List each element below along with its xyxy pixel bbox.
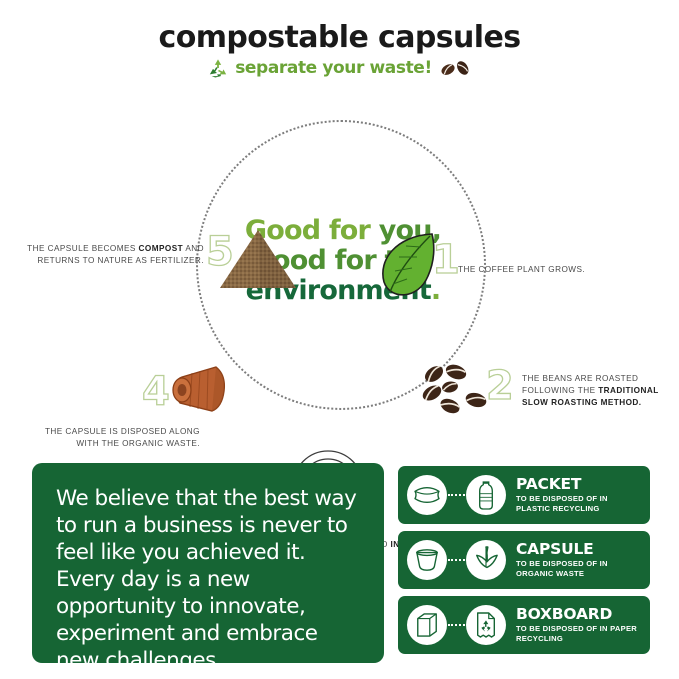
packet-icon-pair <box>407 475 506 515</box>
boxboard-card-title: BOXBOARD <box>516 606 642 622</box>
step-text-5: THE CAPSULE BECOMES COMPOST AND RETURNS … <box>24 243 204 267</box>
boxboard-card-text: BOXBOARD TO BE DISPOSED OF IN PAPER RECY… <box>516 606 642 644</box>
header-subline: separate your waste! <box>0 57 679 79</box>
header-tagline: separate your waste! <box>235 58 432 78</box>
step-text-2: THE BEANS ARE ROASTED FOLLOWING THE TRAD… <box>522 373 672 409</box>
packet-card-title: PACKET <box>516 476 642 492</box>
banana-peel-icon <box>466 540 506 580</box>
capsule-card-subtitle: TO BE DISPOSED OF IN ORGANIC WASTE <box>516 559 642 579</box>
dotted-connector <box>448 494 465 496</box>
waste-card-boxboard[interactable]: BOXBOARD TO BE DISPOSED OF IN PAPER RECY… <box>398 596 650 654</box>
packet-card-subtitle: TO BE DISPOSED OF IN PLASTIC RECYCLING <box>516 494 642 514</box>
coffee-beans-icon <box>438 57 472 79</box>
waste-card-packet[interactable]: PACKET TO BE DISPOSED OF IN PLASTIC RECY… <box>398 466 650 524</box>
compost-pile-icon <box>216 226 300 294</box>
step-text-4: THE CAPSULE IS DISPOSED ALONG WITH THE O… <box>20 426 200 450</box>
leaf-icon <box>374 230 438 302</box>
boxboard-icon-pair <box>407 605 506 645</box>
packet-pouch-icon <box>407 475 447 515</box>
lifecycle-diagram: Good for you, good for the environment. … <box>0 108 679 453</box>
page-title: compostable capsules <box>0 22 679 54</box>
capsule-card-title: CAPSULE <box>516 541 642 557</box>
step5-pre: THE CAPSULE BECOMES <box>27 244 138 253</box>
waste-card-capsule[interactable]: CAPSULE TO BE DISPOSED OF IN ORGANIC WAS… <box>398 531 650 589</box>
step5-bold: COMPOST <box>139 244 184 253</box>
dotted-connector <box>448 559 465 561</box>
capsule-icon <box>407 540 447 580</box>
coffee-beans-group-icon <box>420 356 500 418</box>
capsule-card-text: CAPSULE TO BE DISPOSED OF IN ORGANIC WAS… <box>516 541 642 579</box>
waste-cards-list: PACKET TO BE DISPOSED OF IN PLASTIC RECY… <box>398 466 650 661</box>
packet-sub-pre: TO BE DISPOSED OF IN <box>516 494 608 503</box>
paper-recycle-icon <box>466 605 506 645</box>
capsule-icon-pair <box>407 540 506 580</box>
boxboard-sub-pre: TO BE DISPOSED OF IN <box>516 624 610 633</box>
capsule-sub-bold: ORGANIC WASTE <box>516 569 584 578</box>
infographic-page: compostable capsules separate your waste… <box>0 0 679 679</box>
coffee-capsule-icon <box>164 361 230 419</box>
quote-text: We believe that the best way to run a bu… <box>56 485 362 675</box>
box-icon <box>407 605 447 645</box>
packet-sub-bold: PLASTIC RECYCLING <box>516 504 600 513</box>
quote-card: We believe that the best way to run a bu… <box>32 463 384 663</box>
recycle-icon <box>207 58 229 78</box>
step-text-1: THE COFFEE PLANT GROWS. <box>458 264 628 276</box>
dotted-connector <box>448 624 465 626</box>
capsule-sub-pre: TO BE DISPOSED OF IN <box>516 559 608 568</box>
header: compostable capsules separate your waste… <box>0 22 679 79</box>
boxboard-card-subtitle: TO BE DISPOSED OF IN PAPER RECYCLING <box>516 624 642 644</box>
packet-card-text: PACKET TO BE DISPOSED OF IN PLASTIC RECY… <box>516 476 642 514</box>
plastic-bottle-icon <box>466 475 506 515</box>
